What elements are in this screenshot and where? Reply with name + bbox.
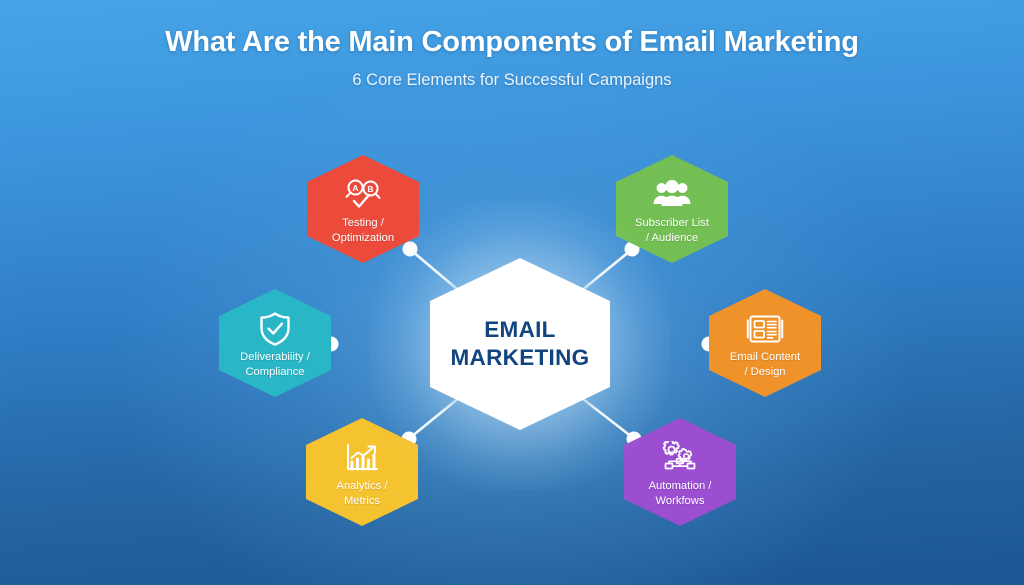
node-label-line1: Analytics / [337,479,388,493]
svg-text:A: A [352,183,358,193]
node-deliverability-compliance[interactable]: Deliverabiiity / Compliance [219,289,331,397]
node-testing-optimization[interactable]: A B Testing / Optimization [307,155,419,263]
page-title: What Are the Main Components of Email Ma… [0,26,1024,59]
node-label-line2: / Audience [635,231,709,245]
center-label-line1: EMAIL [451,316,590,344]
gears-workflow-icon [660,440,700,476]
node-email-content-design[interactable]: Email Content / Design [709,289,821,397]
newspaper-layout-icon [745,311,785,347]
center-node[interactable]: EMAIL MARKETING [430,258,610,430]
center-label-line2: MARKETING [451,344,590,372]
ab-testing-icon: A B [343,177,383,213]
svg-text:B: B [367,184,373,194]
node-label-line1: Email Content [730,350,800,364]
node-label: Testing / Optimization [332,216,394,245]
node-label-line1: Testing / [332,216,394,230]
hexagon-shape: A B Testing / Optimization [307,155,419,263]
center-hexagon: EMAIL MARKETING [430,258,610,430]
connector-deliverability [324,337,431,352]
node-label-line2: Optimization [332,231,394,245]
hexagon-shape: Email Content / Design [709,289,821,397]
header: What Are the Main Components of Email Ma… [0,26,1024,90]
hexagon-shape: Deliverabiiity / Compliance [219,289,331,397]
node-subscriber-list-audience[interactable]: Subscriber List / Audience [616,155,728,263]
node-label-line1: Automation / [649,479,712,493]
node-label-line2: / Design [730,365,800,379]
bar-chart-growth-icon [342,440,382,476]
node-label-line1: Subscriber List [635,216,709,230]
node-label: Deliverabiiity / Compliance [240,350,310,379]
infographic-canvas: What Are the Main Components of Email Ma… [0,0,1024,585]
node-label: Email Content / Design [730,350,800,379]
node-label: Analytics / Metrics [337,479,388,508]
node-label-line2: Compliance [240,365,310,379]
node-label: Automation / Workfows [649,479,712,508]
shield-check-icon [255,311,295,347]
hexagon-shape: Analytics / Metrics [306,418,418,526]
node-analytics-metrics[interactable]: Analytics / Metrics [306,418,418,526]
center-label: EMAIL MARKETING [451,316,590,372]
hexagon-shape: Automation / Workfows [624,418,736,526]
connector-content [610,337,717,352]
node-automation-workflows[interactable]: Automation / Workfows [624,418,736,526]
node-label-line2: Metrics [337,494,388,508]
people-group-icon [652,177,692,213]
node-label-line2: Workfows [649,494,712,508]
hexagon-shape: Subscriber List / Audience [616,155,728,263]
node-label-line1: Deliverabiiity / [240,350,310,364]
node-label: Subscriber List / Audience [635,216,709,245]
page-subtitle: 6 Core Elements for Successful Campaigns [0,71,1024,90]
